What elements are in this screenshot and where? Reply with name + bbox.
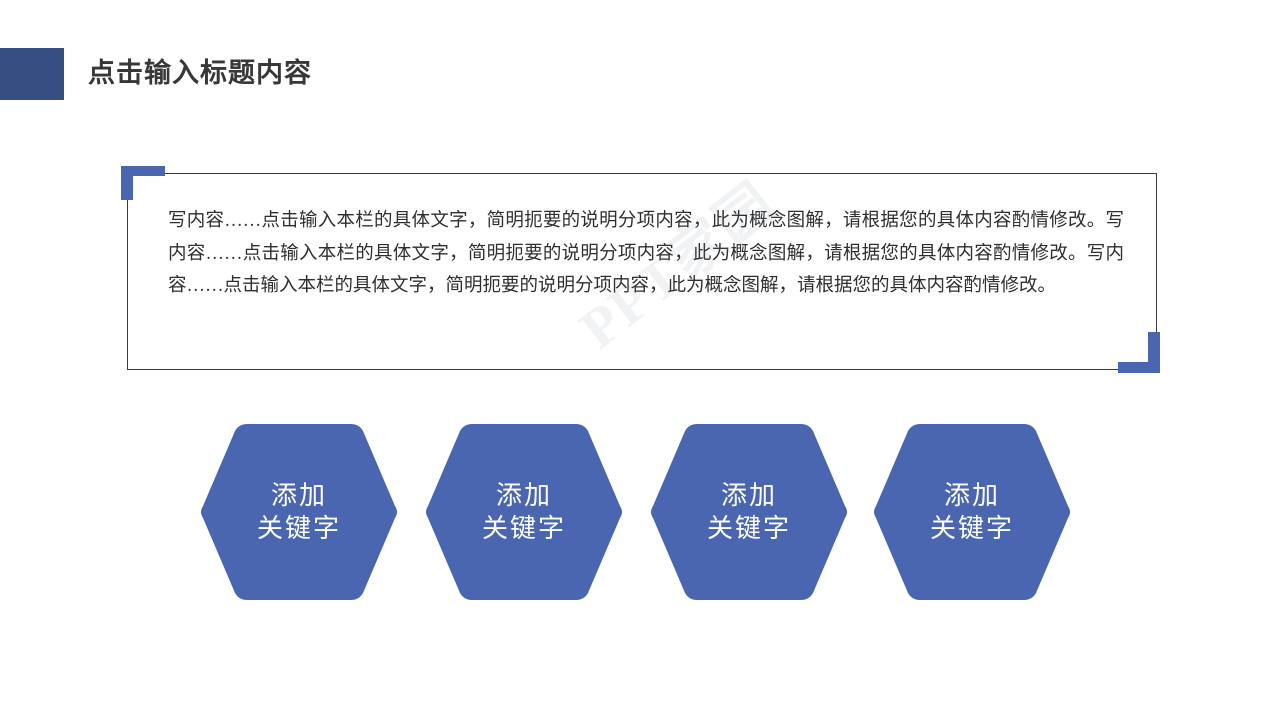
hexagon-item-2[interactable]: 添加 关键字 (420, 418, 628, 606)
corner-accent-top-left-icon (121, 166, 165, 200)
hexagon-row: 添加 关键字 添加 关键字 添加 关键字 (0, 418, 1280, 608)
hexagon-shape-icon (868, 418, 1076, 606)
hexagon-item-3[interactable]: 添加 关键字 (645, 418, 853, 606)
hexagon-shape-icon (645, 418, 853, 606)
hexagon-item-4[interactable]: 添加 关键字 (868, 418, 1076, 606)
corner-accent-bottom-right-icon (1118, 332, 1160, 373)
content-paragraph: 写内容……点击输入本栏的具体文字，简明扼要的说明分项内容，此为概念图解，请根据您… (168, 205, 1124, 303)
hexagon-item-1[interactable]: 添加 关键字 (195, 418, 403, 606)
page-title: 点击输入标题内容 (88, 51, 312, 95)
slide-canvas: 点击输入标题内容 写内容……点击输入本栏的具体文字，简明扼要的说明分项内容，此为… (0, 0, 1280, 720)
hexagon-shape-icon (195, 418, 403, 606)
hexagon-shape-icon (420, 418, 628, 606)
title-accent-block (0, 48, 64, 100)
